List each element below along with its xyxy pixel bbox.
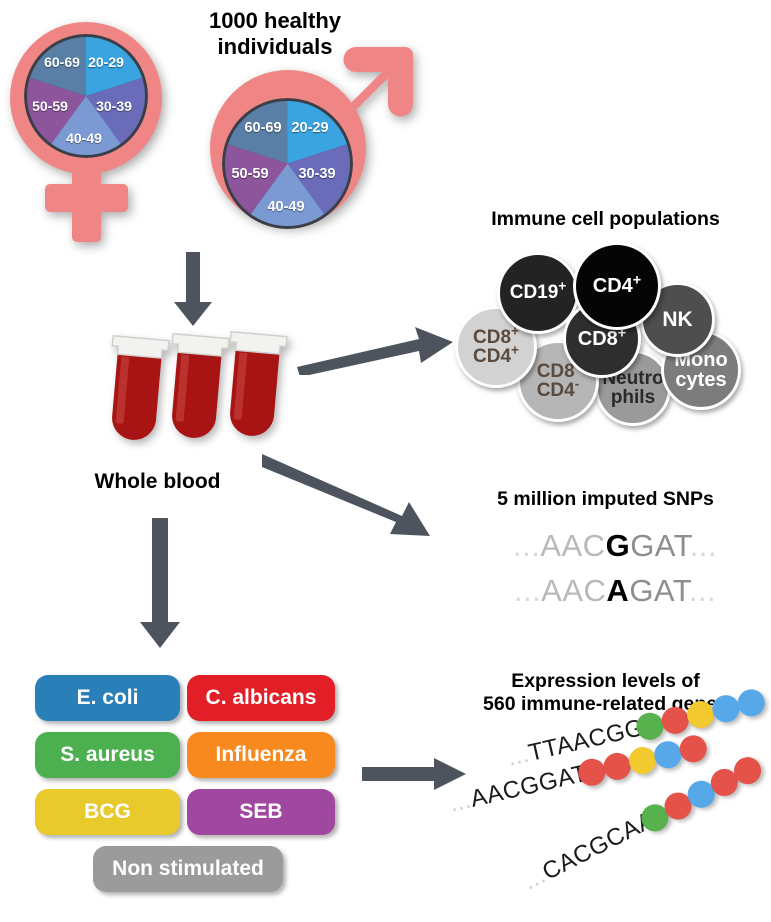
stimulation-box-label: Influenza	[215, 743, 306, 767]
blood-tube-3	[222, 332, 287, 438]
arrow-blood-to-stimulations	[138, 518, 182, 650]
stimulation-box-label: E. coli	[77, 686, 139, 710]
cell-bubble-label: CD19+	[510, 283, 567, 302]
cell-bubble-label: CD8+CD4+	[473, 328, 519, 367]
blood-tubes	[100, 330, 290, 465]
male-slice-label-60-69: 60-69	[244, 120, 281, 136]
cell-bubble-label: CD8+	[578, 329, 626, 349]
cell-bubble-label: NK	[662, 309, 692, 330]
snp-suffix-bases: GAT	[629, 573, 689, 608]
stimulation-box-label: SEB	[239, 800, 282, 824]
male-slice-label-20-29: 20-29	[291, 120, 328, 136]
dna-bead	[626, 744, 658, 776]
stimulation-box-influenza[interactable]: Influenza	[187, 732, 335, 778]
dna-bead	[659, 704, 691, 736]
snp-suffix-bases: GAT	[630, 528, 690, 563]
stimulation-box-e-coli[interactable]: E. coli	[35, 675, 180, 721]
stimulation-box-seb[interactable]: SEB	[187, 789, 335, 835]
female-slice-label-40-49: 40-49	[66, 130, 102, 146]
dna-sequence-ellipsis: ...	[505, 740, 532, 771]
female-age-pie: 20-29 30-39 40-49 50-59 60-69	[24, 34, 148, 158]
snp-prefix-ellipsis: ...	[514, 573, 541, 608]
male-slice-label-30-39: 30-39	[298, 166, 335, 182]
snp-suffix-ellipsis: ...	[690, 528, 717, 563]
snp-title: 5 million imputed SNPs	[450, 488, 761, 511]
stimulation-conditions-group: E. coliC. albicansS. aureusInfluenzaBCGS…	[35, 675, 345, 895]
dna-bead	[710, 692, 742, 724]
immune-cell-populations-title: Immune cell populations	[440, 208, 771, 231]
stimulation-box-label: BCG	[84, 800, 131, 824]
female-slice-label-50-59: 50-59	[32, 98, 68, 114]
male-age-pie: 20-29 30-39 40-49 50-59 60-69	[222, 98, 353, 229]
snp-prefix-ellipsis: ...	[513, 528, 540, 563]
cell-bubble-label: CD4+	[593, 276, 641, 296]
snp-sequence-block: ...AACGGAT... ...AACAGAT...	[470, 528, 760, 618]
dna-bead	[735, 686, 767, 718]
arrow-blood-to-immune-cells	[295, 325, 455, 375]
snp-variant-base: A	[606, 573, 629, 608]
stimulation-box-label: S. aureus	[60, 743, 155, 767]
cell-bubble-label: CD8-CD4-	[537, 362, 580, 401]
male-slice-label-40-49: 40-49	[267, 199, 304, 215]
dna-bead	[684, 698, 716, 730]
female-slice-label-30-39: 30-39	[96, 98, 132, 114]
stimulation-box-non-stimulated[interactable]: Non stimulated	[93, 846, 283, 892]
snp-suffix-ellipsis: ...	[689, 573, 716, 608]
stimulation-box-c-albicans[interactable]: C. albicans	[187, 675, 335, 721]
dna-bead	[677, 732, 709, 764]
dna-strand-sequence: ...CACGCAA	[519, 806, 660, 896]
snp-row: ...AACGGAT...	[470, 528, 760, 564]
arrow-blood-to-snps	[262, 452, 442, 542]
blood-tube-1	[104, 336, 169, 442]
stimulation-box-s-aureus[interactable]: S. aureus	[35, 732, 180, 778]
dna-sequence-ellipsis: ...	[447, 786, 474, 817]
dna-sequence-ellipsis: ...	[519, 861, 550, 895]
male-slice-label-50-59: 50-59	[231, 166, 268, 182]
snp-row: ...AACAGAT...	[470, 573, 760, 609]
arrow-cohort-to-blood	[170, 252, 216, 328]
female-slice-label-60-69: 60-69	[44, 54, 80, 70]
cell-bubble-cd4: CD4+	[573, 242, 661, 330]
immune-cell-bubble-cluster: CD19+ CD4+ NK CD8+CD4+ CD8+ CD8-CD4- Neu…	[455, 240, 755, 415]
expression-dna-strands: ...TTAACGG...AACGGAT...CACGCAA	[450, 715, 771, 915]
snp-variant-base: G	[606, 528, 631, 563]
snp-prefix-bases: AAC	[541, 573, 606, 608]
snp-prefix-bases: AAC	[540, 528, 605, 563]
stimulation-box-label: C. albicans	[206, 686, 317, 710]
blood-tube-2	[164, 334, 229, 440]
dna-bead	[652, 738, 684, 770]
dna-bead	[601, 750, 633, 782]
stimulation-box-bcg[interactable]: BCG	[35, 789, 180, 835]
stimulation-box-label: Non stimulated	[112, 857, 264, 881]
female-slice-label-20-29: 20-29	[88, 54, 124, 70]
whole-blood-label: Whole blood	[55, 470, 260, 495]
